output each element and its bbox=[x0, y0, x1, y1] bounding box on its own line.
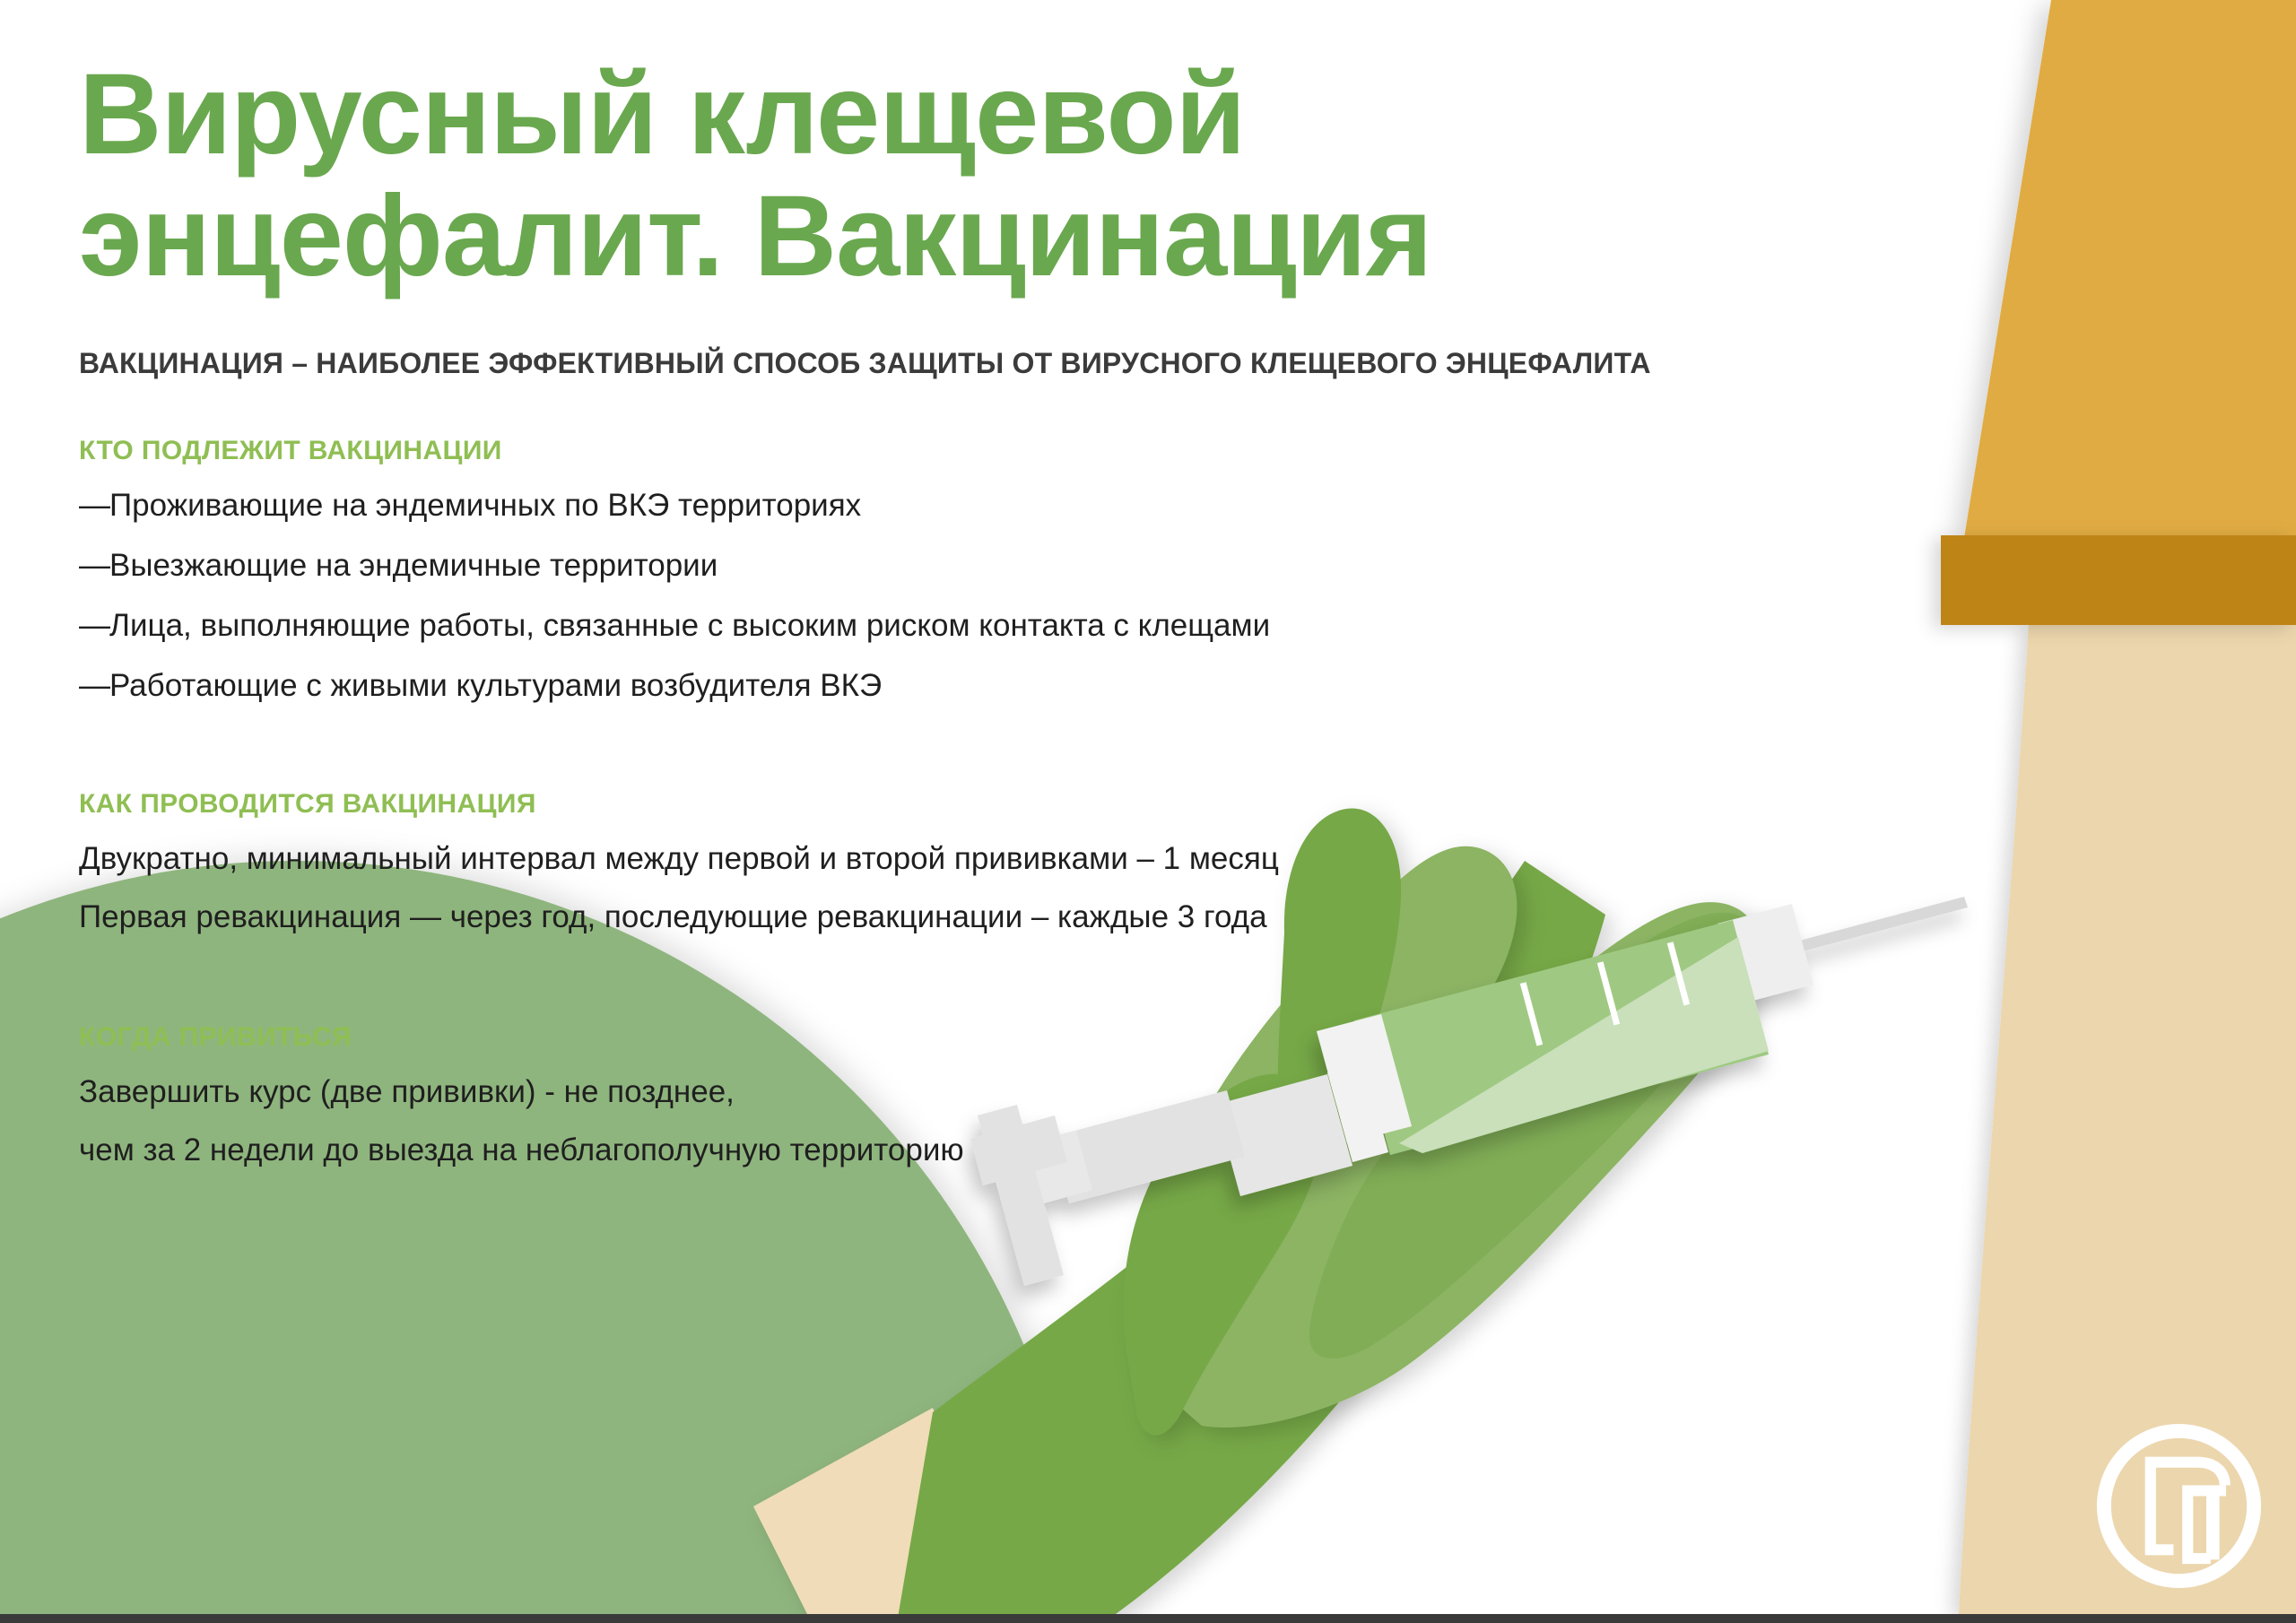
section-when-to-vaccinate: КОГДА ПРИВИТЬСЯ Завершить курс (две прив… bbox=[79, 1022, 1873, 1166]
bullet-list: —Проживающие на эндемичных по ВКЭ террит… bbox=[79, 490, 1873, 701]
page-title: Вирусный клещевой энцефалит. Вакцинация bbox=[79, 54, 1657, 297]
section-how-vaccination-is-done: КАК ПРОВОДИТСЯ ВАКЦИНАЦИЯ Двукратно, мин… bbox=[79, 789, 1873, 933]
list-item-label: Лица, выполняющие работы, связанные с вы… bbox=[109, 608, 1270, 643]
bullet-dash-icon: — bbox=[79, 490, 109, 521]
poster-canvas: Вирусный клещевой энцефалит. Вакцинация … bbox=[0, 0, 2296, 1623]
section-heading: КАК ПРОВОДИТСЯ ВАКЦИНАЦИЯ bbox=[79, 789, 1873, 820]
poster-content: Вирусный клещевой энцефалит. Вакцинация … bbox=[79, 54, 1873, 1166]
list-item: —Работающие с живыми культурами возбудит… bbox=[79, 670, 1873, 701]
list-item-label: Выезжающие на эндемичные территории bbox=[109, 548, 717, 583]
body-line: Двукратно, минимальный интервал между пе… bbox=[79, 843, 1873, 874]
body-line: Первая ревакцинация — через год, последу… bbox=[79, 901, 1873, 933]
tree-trunk-beige-column bbox=[1959, 623, 2296, 1614]
list-item: —Проживающие на эндемичных по ВКЭ террит… bbox=[79, 490, 1873, 521]
list-item: —Лица, выполняющие работы, связанные с в… bbox=[79, 610, 1873, 641]
bullet-dash-icon: — bbox=[79, 610, 109, 641]
body-line: чем за 2 недели до выезда на неблагополу… bbox=[79, 1134, 1873, 1166]
body-line: Завершить курс (две прививки) - не поздн… bbox=[79, 1076, 1873, 1107]
section-heading: КТО ПОДЛЕЖИТ ВАКЦИНАЦИИ bbox=[79, 436, 1873, 466]
list-item-label: Проживающие на эндемичных по ВКЭ террито… bbox=[109, 488, 861, 523]
bullet-dash-icon: — bbox=[79, 550, 109, 581]
bottom-strip bbox=[0, 1614, 2296, 1623]
section-who-should-vaccinate: КТО ПОДЛЕЖИТ ВАКЦИНАЦИИ —Проживающие на … bbox=[79, 436, 1873, 701]
title-line-2: энцефалит. Вакцинация bbox=[79, 172, 1431, 300]
list-item: —Выезжающие на эндемичные территории bbox=[79, 550, 1873, 581]
bullet-dash-icon: — bbox=[79, 670, 109, 701]
list-item-label: Работающие с живыми культурами возбудите… bbox=[109, 668, 882, 703]
tree-trunk-dark-band bbox=[1941, 535, 2296, 625]
title-line-1: Вирусный клещевой bbox=[79, 50, 1245, 178]
organization-logo bbox=[2097, 1424, 2261, 1588]
section-heading: КОГДА ПРИВИТЬСЯ bbox=[79, 1022, 1873, 1053]
tree-trunk-gold-shape bbox=[1964, 0, 2296, 538]
poster-subtitle: ВАКЦИНАЦИЯ – НАИБОЛЕЕ ЭФФЕКТИВНЫЙ СПОСОБ… bbox=[79, 347, 1873, 380]
